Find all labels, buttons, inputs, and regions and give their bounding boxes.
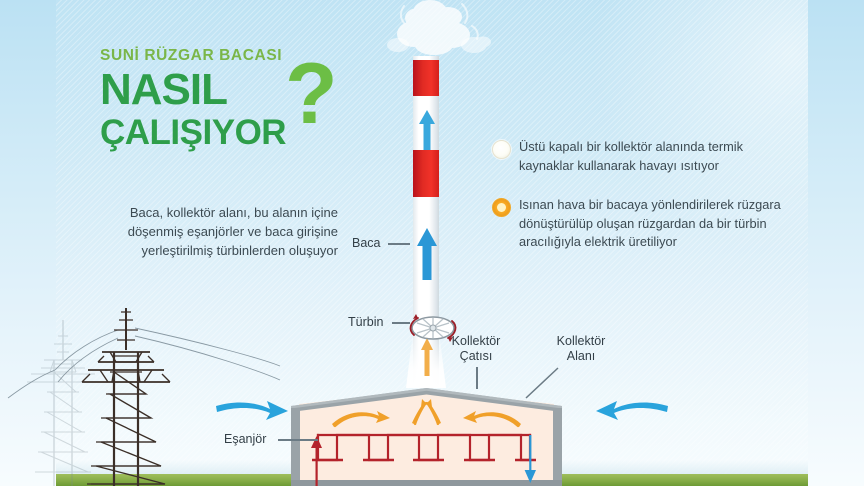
power-lines [8,328,280,398]
label-collector-area-line1: Kollektör [557,334,606,348]
headline-line1: NASIL [100,65,227,114]
collector-wall-right [553,408,562,486]
label-collector-area: Kollektör Alanı [545,334,617,364]
pylon-near [82,308,170,486]
chimney-up-arrow-upper [414,108,440,152]
chimney-up-arrow-lower [412,226,442,282]
cloud-icon [492,140,511,159]
bullet-text-2: Isınan hava bir bacaya yönlendirilerek r… [519,197,781,249]
collector-floor [291,480,562,486]
label-collector-roof: Kollektör Çatısı [440,334,512,364]
chimney-red-band-1 [413,60,439,96]
chimney-red-band-2 [413,150,439,197]
letterbox-right [808,0,864,486]
headline-line2-row: ÇALIŞIYOR [100,111,400,155]
collector-building [285,388,568,486]
leader-line-chimney [388,243,410,245]
pylon-group [0,300,280,486]
bullet-item-1: Üstü kapalı bir kollektör alanında termi… [492,138,792,175]
leader-line-collector-area [524,366,560,400]
blue-inflow-arrow-right [594,396,672,430]
bullet-text-1: Üstü kapalı bir kollektör alanında termi… [519,139,743,173]
bullet-list: Üstü kapalı bir kollektör alanında termi… [492,138,792,273]
label-collector-area-line2: Alanı [567,349,596,363]
collector-wall-left [291,408,300,486]
headline-block: SUNİ RÜZGAR BACASI NASIL ? ÇALIŞIYOR [100,48,400,155]
headline-line2: ÇALIŞIYOR [100,113,286,152]
leader-line-turbine [392,322,410,324]
bullet-item-2: Isınan hava bir bacaya yönlendirilerek r… [492,196,792,252]
leader-line-exchanger [278,439,318,441]
headline-line1-row: NASIL ? [100,67,400,113]
infographic-canvas: SUNİ RÜZGAR BACASI NASIL ? ÇALIŞIYOR Bac… [0,0,864,486]
label-exchanger: Eşanjör [224,432,266,447]
smoke-cloud [382,0,502,68]
label-collector-roof-line2: Çatısı [460,349,493,363]
blue-inflow-arrow-left [212,396,290,430]
leader-line-collector-roof [476,367,478,389]
headline-kicker: SUNİ RÜZGAR BACASI [100,48,400,64]
label-chimney: Baca [352,236,381,251]
pylon-far [27,320,99,486]
label-turbine: Türbin [348,315,383,330]
left-description-paragraph: Baca, kollektör alanı, bu alanın içine d… [105,203,338,260]
sun-icon [492,198,511,217]
label-collector-roof-line1: Kollektör [452,334,501,348]
